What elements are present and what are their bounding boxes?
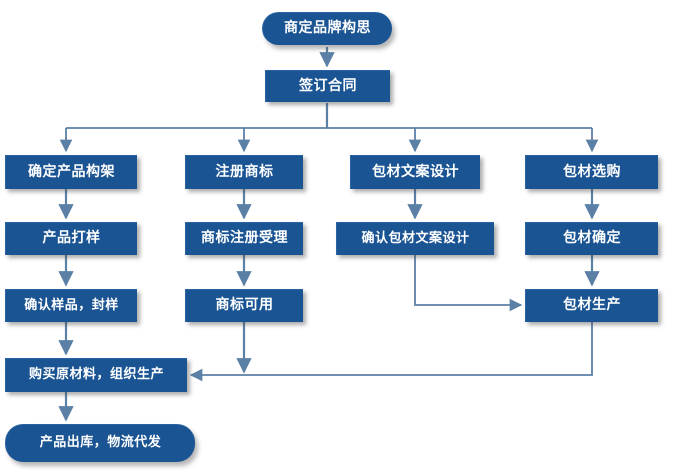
flowchart-canvas: 商定品牌构思 签订合同 确定产品构架 注册商标 包材文案设计 包材选购 产品打样…	[0, 0, 677, 475]
node-define-product-frame[interactable]: 确定产品构架	[5, 155, 137, 189]
node-packaging-production[interactable]: 包材生产	[525, 289, 658, 322]
node-buy-materials-organize-production[interactable]: 购买原材料，组织生产	[5, 358, 187, 392]
node-confirm-packaging-copy[interactable]: 确认包材文案设计	[336, 222, 494, 255]
node-sign-contract[interactable]: 签订合同	[265, 70, 390, 102]
node-product-outbound-logistics[interactable]: 产品出库，物流代发	[5, 424, 195, 462]
node-product-sampling[interactable]: 产品打样	[5, 222, 137, 255]
edge-confirm-copy-to-packaging-production	[415, 255, 521, 305]
node-confirm-sample-sealing[interactable]: 确认样品，封样	[5, 289, 137, 322]
node-packaging-purchase[interactable]: 包材选购	[525, 155, 658, 189]
edge-packaging-production-to-purchase	[191, 322, 592, 375]
node-register-trademark[interactable]: 注册商标	[185, 155, 303, 189]
node-packaging-copy-design[interactable]: 包材文案设计	[350, 155, 480, 189]
node-trademark-accepted[interactable]: 商标注册受理	[185, 222, 303, 255]
node-packaging-confirmed[interactable]: 包材确定	[525, 222, 658, 255]
node-trademark-available[interactable]: 商标可用	[185, 289, 303, 322]
node-brand-concept[interactable]: 商定品牌构思	[262, 12, 392, 45]
